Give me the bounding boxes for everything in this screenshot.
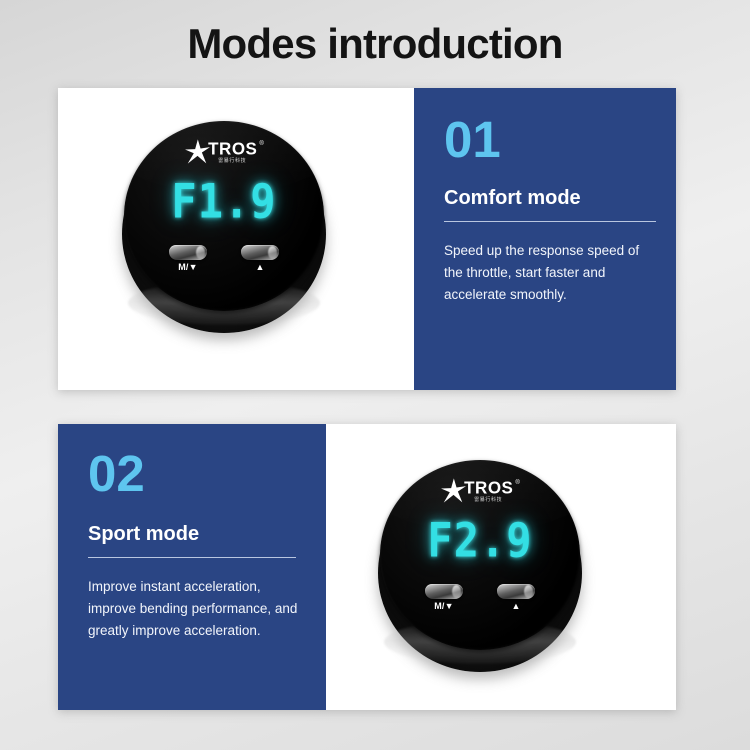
device-face: TROS ® 雷暴行科技 F1.9 M/▼ xyxy=(124,121,324,311)
device-area-02: TROS ® 雷暴行科技 F2.9 M/▼ xyxy=(326,424,676,710)
mode-panel-02: 02 Sport mode Improve instant accelerati… xyxy=(58,424,676,710)
mode-text-area-02: 02 Sport mode Improve instant accelerati… xyxy=(58,424,326,710)
brand-name: TROS xyxy=(464,479,513,497)
mode-number-02: 02 xyxy=(88,448,302,499)
brand-text-block: TROS ® 雷暴行科技 xyxy=(464,479,520,503)
device-wrapper-02: TROS ® 雷暴行科技 F2.9 M/▼ xyxy=(376,460,584,668)
led-display-01: F1.9 xyxy=(124,174,324,229)
device-button-row-01: M/▼ ▲ xyxy=(124,245,324,272)
mode-number-01: 01 xyxy=(444,114,652,165)
device-wrapper-01: TROS ® 雷暴行科技 F1.9 M/▼ xyxy=(120,121,328,329)
up-button-cap[interactable] xyxy=(497,584,535,599)
mode-divider-01 xyxy=(444,221,656,222)
device-area-01: TROS ® 雷暴行科技 F1.9 M/▼ xyxy=(58,88,414,390)
up-button[interactable]: ▲ xyxy=(237,245,283,272)
page-title: Modes introduction xyxy=(0,20,750,68)
brand-text-block: TROS ® 雷暴行科技 xyxy=(208,140,264,164)
mode-divider-02 xyxy=(88,557,296,558)
star-icon xyxy=(184,138,211,165)
mode-down-button-label: M/▼ xyxy=(178,263,198,272)
throttle-controller-device-01: TROS ® 雷暴行科技 F1.9 M/▼ xyxy=(120,121,328,329)
mode-panel-01: TROS ® 雷暴行科技 F1.9 M/▼ xyxy=(58,88,676,390)
mode-heading-01: Comfort mode xyxy=(444,187,652,209)
brand-logo: TROS ® 雷暴行科技 xyxy=(380,478,580,504)
registered-mark: ® xyxy=(259,141,263,147)
mode-description-01: Speed up the response speed of the throt… xyxy=(444,240,652,306)
up-button[interactable]: ▲ xyxy=(493,584,539,611)
brand-name: TROS xyxy=(208,140,257,158)
mode-down-button[interactable]: M/▼ xyxy=(421,584,467,611)
mode-description-02: Improve instant acceleration, improve be… xyxy=(88,576,302,642)
mode-heading-02: Sport mode xyxy=(88,523,302,545)
up-button-label: ▲ xyxy=(255,263,264,272)
throttle-controller-device-02: TROS ® 雷暴行科技 F2.9 M/▼ xyxy=(376,460,584,668)
infographic-page: Modes introduction xyxy=(0,0,750,750)
mode-down-button[interactable]: M/▼ xyxy=(165,245,211,272)
brand-name-row: TROS ® xyxy=(464,479,520,496)
mode-down-button-label: M/▼ xyxy=(434,602,454,611)
brand-name-row: TROS ® xyxy=(208,140,264,157)
brand-logo: TROS ® 雷暴行科技 xyxy=(124,139,324,165)
device-button-row-02: M/▼ ▲ xyxy=(380,584,580,611)
brand-subtitle: 雷暴行科技 xyxy=(218,159,246,164)
device-face: TROS ® 雷暴行科技 F2.9 M/▼ xyxy=(380,460,580,650)
mode-down-button-cap[interactable] xyxy=(425,584,463,599)
led-display-02: F2.9 xyxy=(380,513,580,568)
star-icon xyxy=(440,477,467,504)
mode-down-button-cap[interactable] xyxy=(169,245,207,260)
registered-mark: ® xyxy=(515,480,519,486)
up-button-cap[interactable] xyxy=(241,245,279,260)
up-button-label: ▲ xyxy=(511,602,520,611)
brand-subtitle: 雷暴行科技 xyxy=(474,498,502,503)
mode-text-area-01: 01 Comfort mode Speed up the response sp… xyxy=(414,88,676,390)
